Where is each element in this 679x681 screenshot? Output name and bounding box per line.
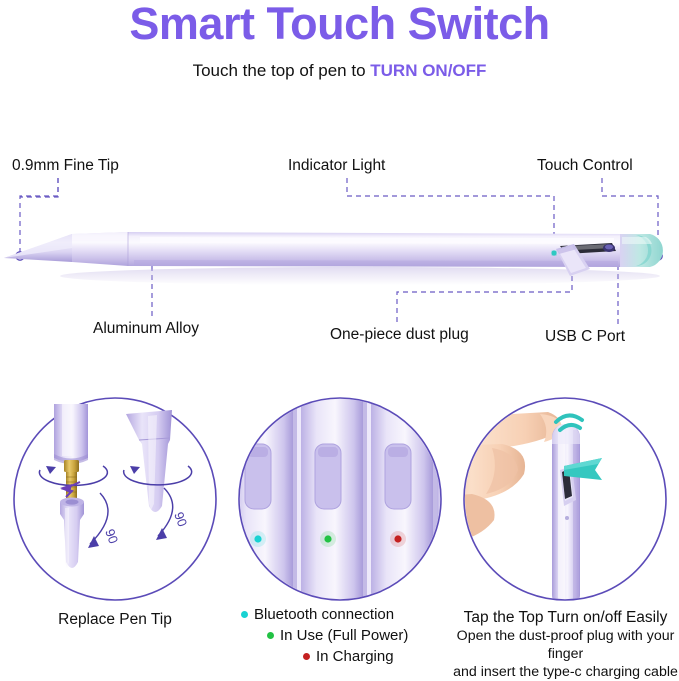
legend-item-bluetooth: Bluetooth connection [227,604,453,625]
tap-top-headline: Tap the Top Turn on/off Easily [464,609,668,626]
svg-text:90: 90 [102,527,121,546]
panel-led-indicators: Bluetooth connection In Use (Full Power)… [227,396,453,670]
stylus-pen-illustration [0,150,679,310]
tap-top-illustration [452,396,679,608]
tap-top-subline-2: and insert the type-c charging cable [452,663,679,681]
replace-pen-tip-illustration: 90 90 [2,396,228,608]
led-legend-list: Bluetooth connection In Use (Full Power)… [227,604,453,667]
panel-replace-pen-tip: 90 90 Replace Pen Tip [2,396,228,670]
tap-top-subline-1: Open the dust-proof plug with your finge… [452,627,679,663]
panel-caption-tap-top: Tap the Top Turn on/off Easily Open the … [452,608,679,681]
legend-label-in-use: In Use (Full Power) [280,625,408,646]
panel-caption-replace-pen-tip: Replace Pen Tip [2,610,228,629]
in-use-led-dot-icon [267,632,274,639]
charging-led-dot-icon [303,653,310,660]
legend-item-charging: In Charging [227,646,453,667]
legend-label-charging: In Charging [316,646,394,667]
panel-tap-top: Tap the Top Turn on/off Easily Open the … [452,396,679,670]
bluetooth-led-dot-icon [241,611,248,618]
svg-text:90: 90 [171,510,190,529]
legend-label-bluetooth: Bluetooth connection [254,604,394,625]
led-indicators-illustration [227,396,453,608]
legend-item-in-use: In Use (Full Power) [227,625,453,646]
infographic-root: Smart Touch Switch Touch the top of pen … [0,0,679,670]
